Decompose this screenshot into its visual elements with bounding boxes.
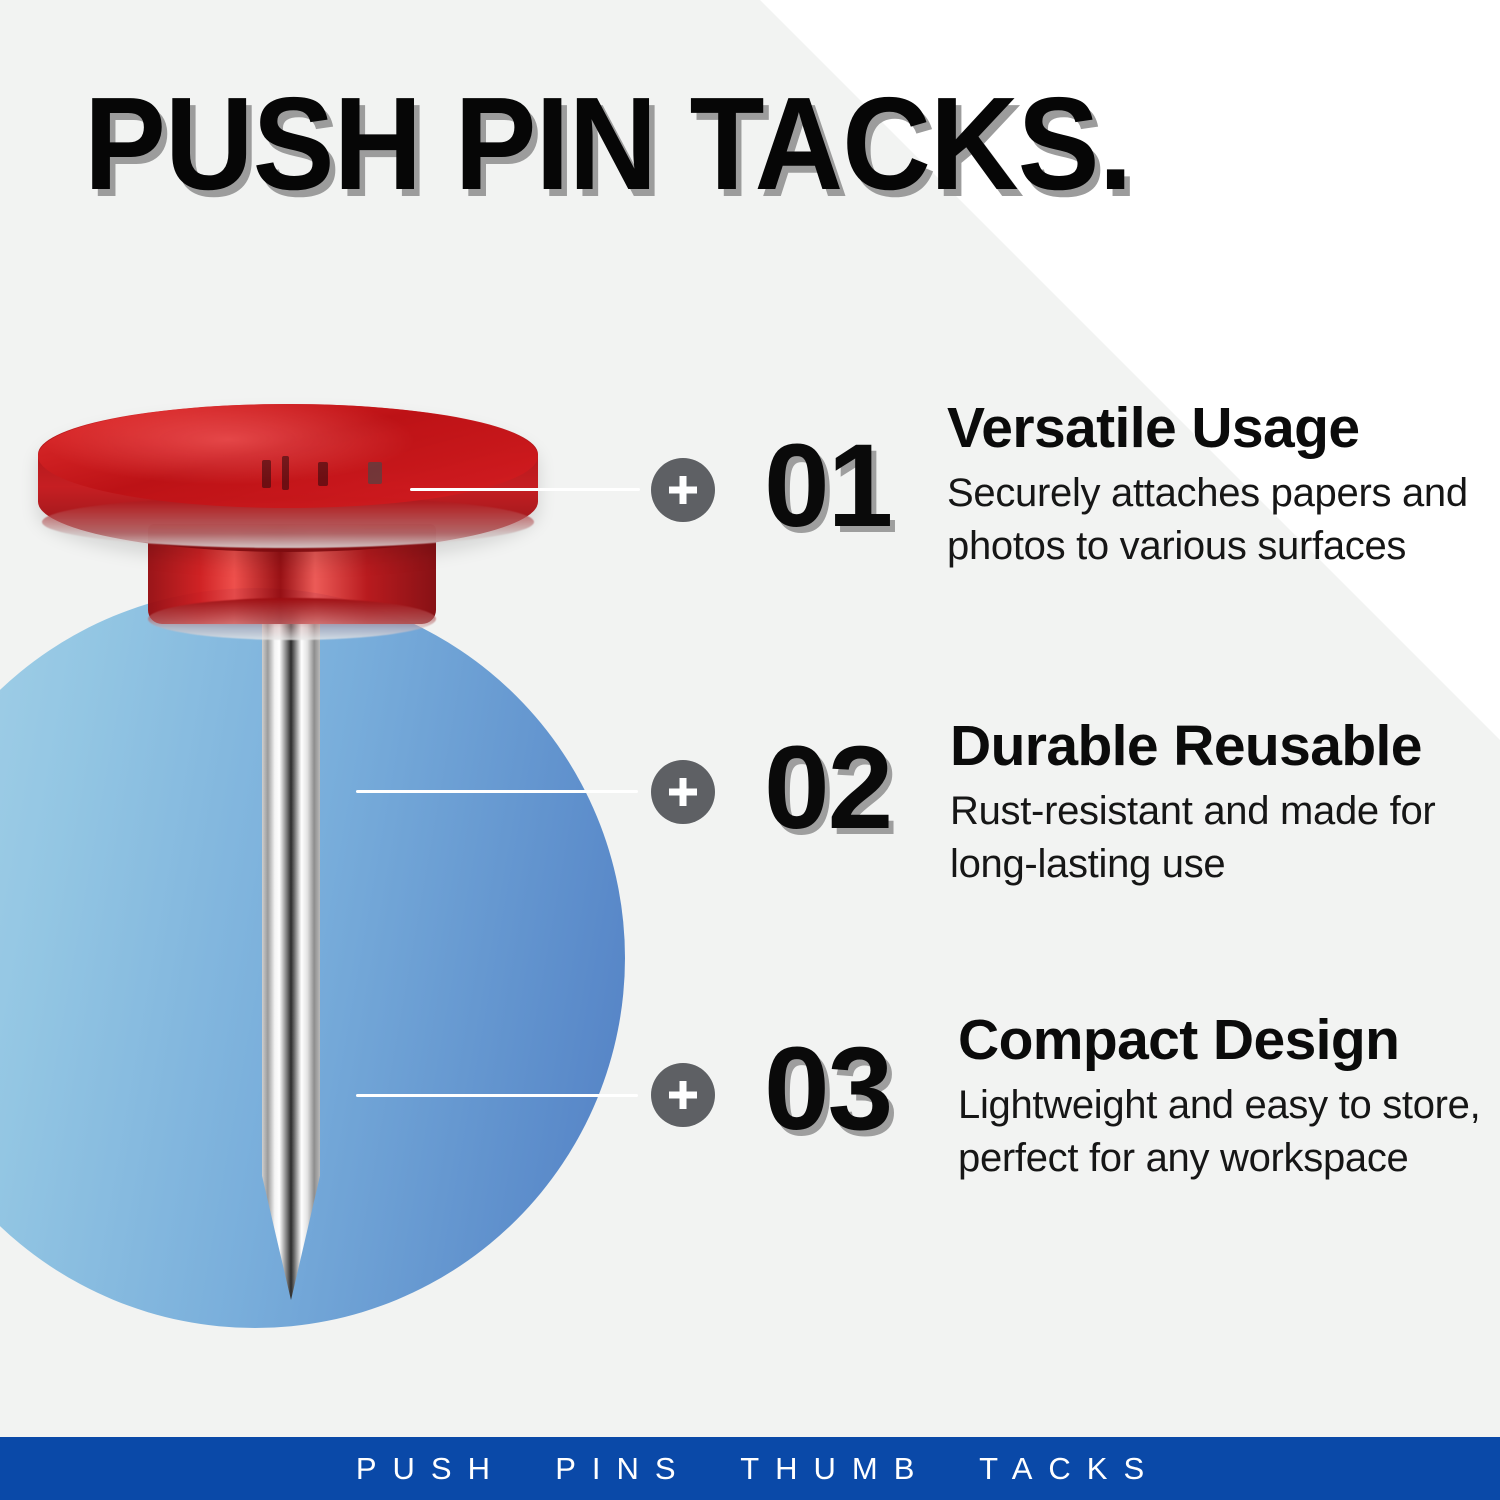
pin-head-slot (318, 462, 328, 486)
feature-description-line: Lightweight and easy to store, (958, 1079, 1480, 1132)
plus-icon (666, 1078, 700, 1112)
connector-line-1 (410, 488, 640, 491)
feature-badge-1[interactable] (651, 458, 715, 522)
feature-number-3: 03 (764, 1030, 891, 1148)
feature-description-1: Securely attaches papers and photos to v… (947, 467, 1468, 573)
push-pin-illustration (30, 392, 550, 1262)
feature-description-line: Securely attaches papers and (947, 467, 1468, 520)
product-infographic: PUSH PIN TACKS. 01 Versatile Usage Secur… (0, 0, 1500, 1500)
feature-text-2: Durable Reusable Rust-resistant and made… (950, 718, 1435, 891)
plus-icon (666, 775, 700, 809)
feature-number-1: 01 (764, 427, 891, 545)
pin-collar-bottom-edge (148, 598, 436, 640)
plus-icon (666, 473, 700, 507)
bottom-banner: PUSH PINS THUMB TACKS (0, 1437, 1500, 1500)
feature-description-2: Rust-resistant and made for long-lasting… (950, 785, 1435, 891)
feature-text-1: Versatile Usage Securely attaches papers… (947, 400, 1468, 573)
feature-description-line: Rust-resistant and made for (950, 785, 1435, 838)
feature-text-3: Compact Design Lightweight and easy to s… (958, 1012, 1480, 1185)
feature-description-line: long-lasting use (950, 838, 1435, 891)
pin-head-slot (368, 462, 382, 484)
pin-shaft (262, 610, 320, 1300)
connector-line-3 (356, 1094, 638, 1097)
feature-badge-2[interactable] (651, 760, 715, 824)
feature-badge-3[interactable] (651, 1063, 715, 1127)
feature-title-1: Versatile Usage (947, 400, 1468, 457)
feature-title-3: Compact Design (958, 1012, 1480, 1069)
feature-number-2: 02 (764, 729, 891, 847)
page-title: PUSH PIN TACKS. (84, 78, 1132, 210)
feature-title-2: Durable Reusable (950, 718, 1435, 775)
feature-description-3: Lightweight and easy to store, perfect f… (958, 1079, 1480, 1185)
connector-line-2 (356, 790, 638, 793)
pin-head-slot (262, 460, 271, 488)
feature-description-line: perfect for any workspace (958, 1132, 1480, 1185)
banner-text: PUSH PINS THUMB TACKS (340, 1451, 1160, 1487)
feature-description-line: photos to various surfaces (947, 520, 1468, 573)
pin-head-slot (282, 456, 289, 490)
